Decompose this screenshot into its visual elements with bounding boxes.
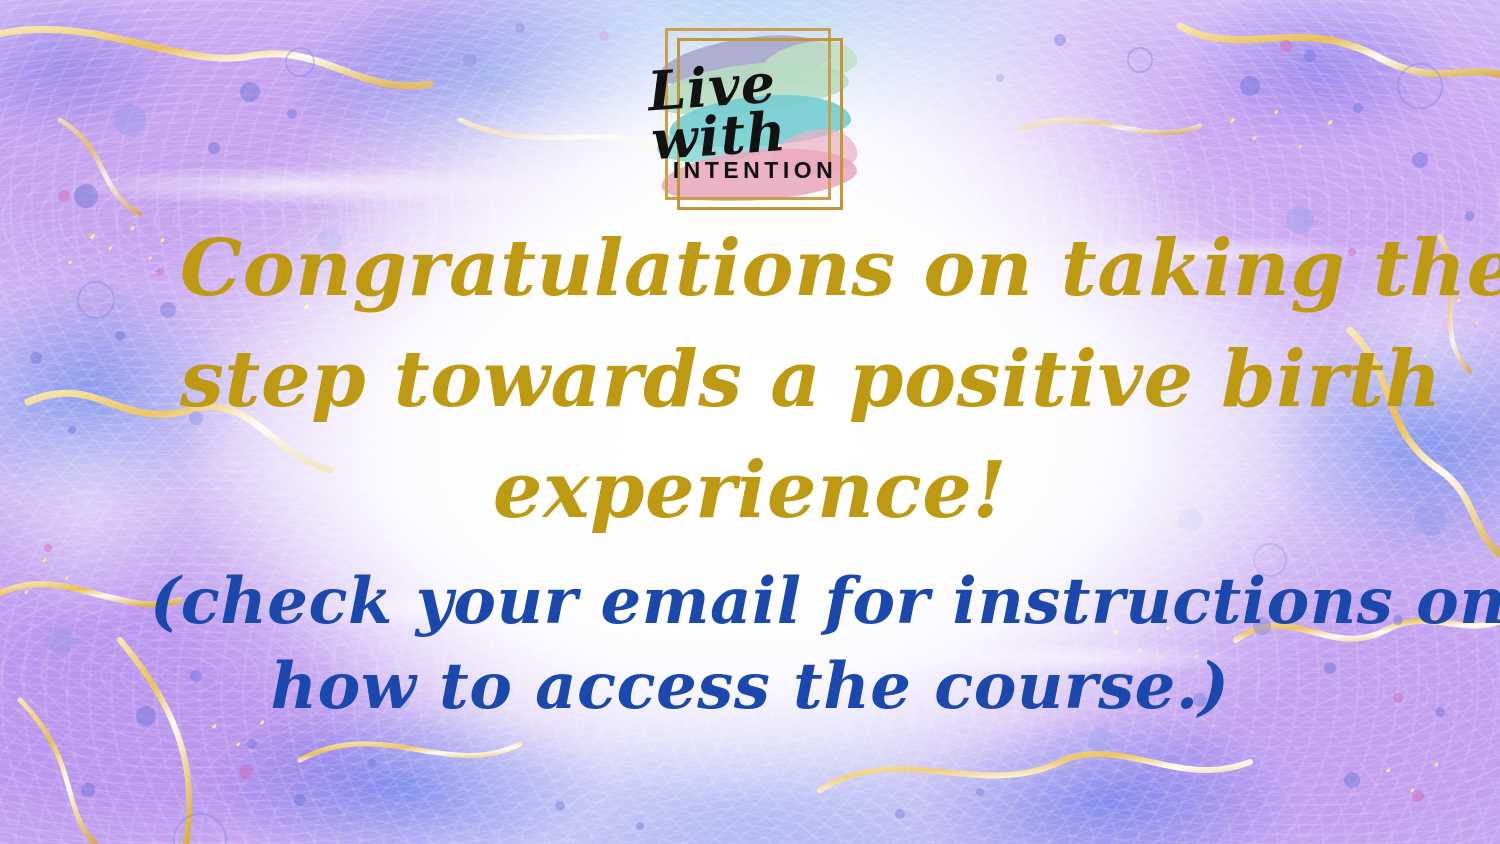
- logo-wordmark: Live with INTENTION: [651, 22, 859, 214]
- message-block: Congratulations on taking the first step…: [0, 214, 1500, 729]
- subtext: (check your email for instructions on ho…: [0, 560, 1500, 729]
- congratulations-card: Live with INTENTION Congratulations on t…: [0, 0, 1500, 844]
- headline: Congratulations on taking the first step…: [0, 214, 1500, 546]
- brand-logo: Live with INTENTION: [651, 22, 859, 214]
- headline-line-3: experience!: [180, 436, 1320, 547]
- logo-script-text: Live with: [646, 53, 860, 164]
- subtext-line-2: how to access the course.): [150, 645, 1350, 729]
- headline-line-2: step towards a positive birth: [180, 325, 1320, 436]
- headline-line-1: Congratulations on taking the first: [180, 214, 1320, 325]
- subtext-line-1: (check your email for instructions on: [150, 560, 1350, 644]
- logo-subtitle-text: INTENTION: [673, 157, 837, 184]
